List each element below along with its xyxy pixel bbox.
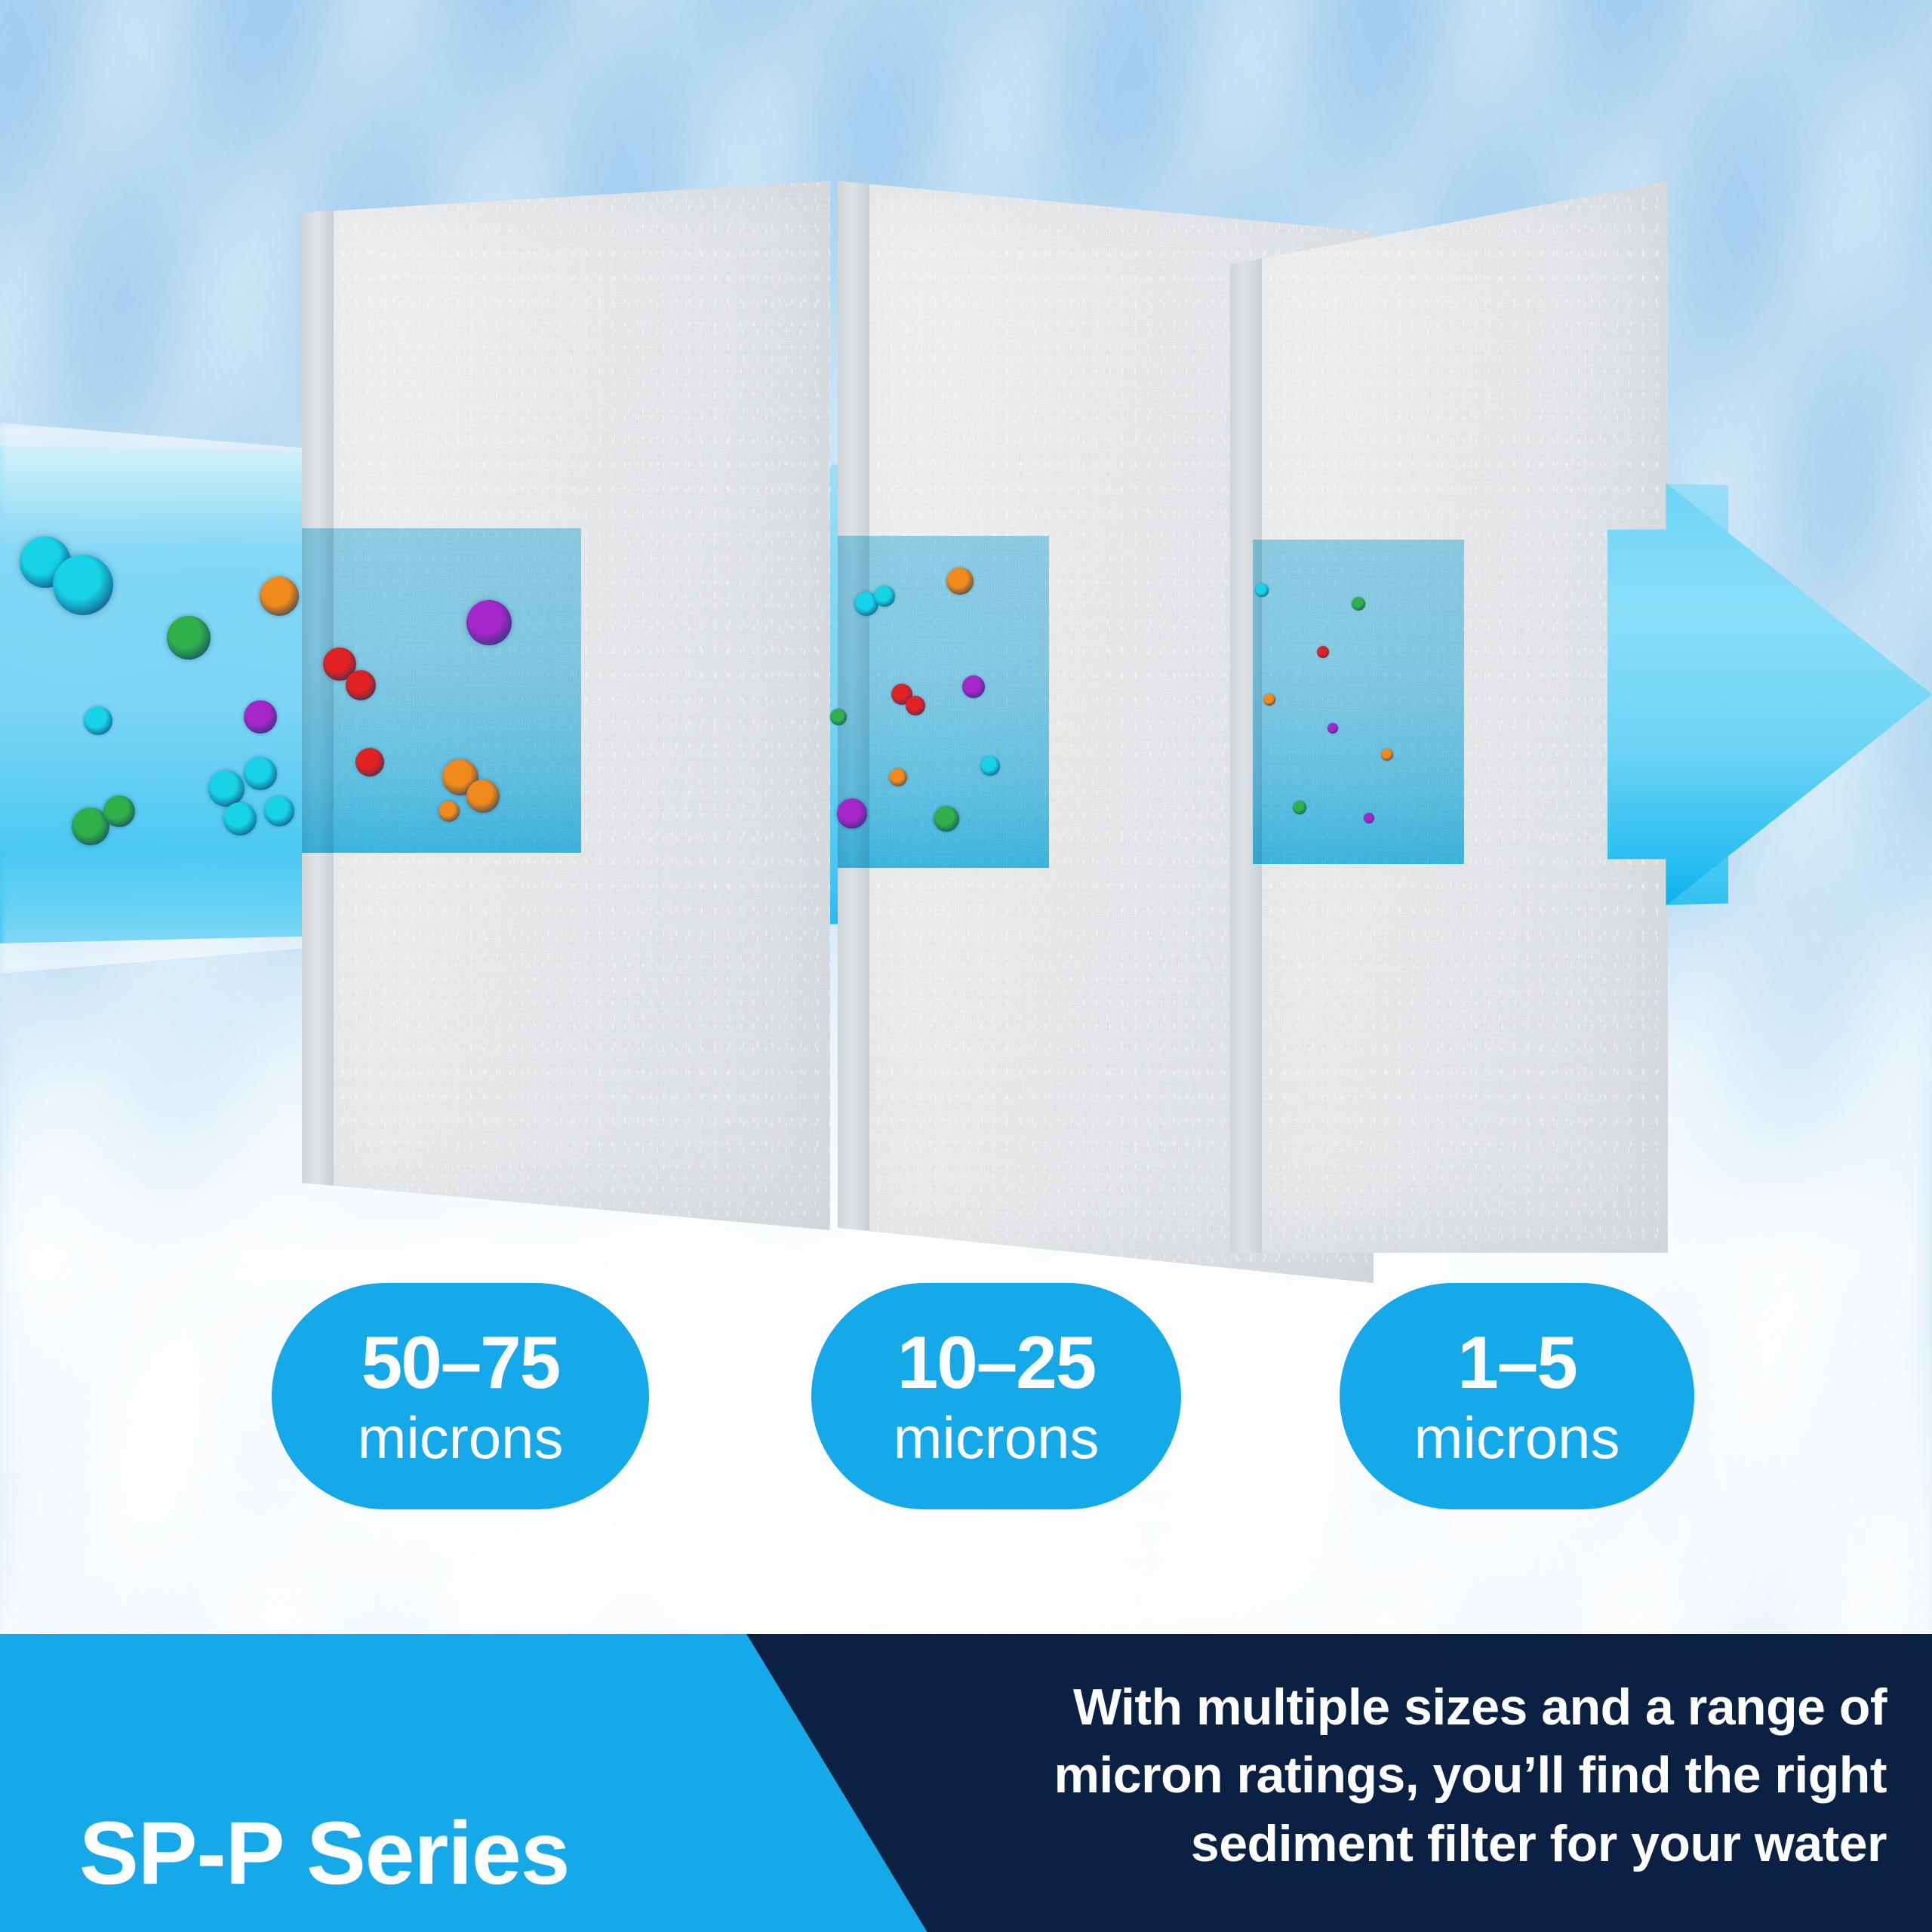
sediment-particle — [1255, 583, 1269, 597]
sediment-particle — [962, 675, 985, 698]
tagline-line-1: With multiple sizes and a range of — [883, 1673, 1887, 1741]
sediment-particle — [874, 586, 895, 607]
sediment-particle — [1381, 749, 1393, 761]
sediment-particle — [244, 757, 277, 790]
micron-pill-stage-3[interactable]: 1–5 microns — [1340, 1283, 1694, 1509]
sediment-particle — [1327, 723, 1338, 734]
micron-unit: microns — [893, 1408, 1099, 1467]
micron-rating-row: 50–75 microns 10–25 microns 1–5 microns — [0, 1283, 1932, 1517]
sediment-particle — [167, 616, 211, 660]
micron-value: 10–25 — [897, 1325, 1096, 1399]
sediment-particle — [346, 670, 376, 700]
sediment-particle — [438, 801, 460, 822]
water-window-stage-3 — [1253, 540, 1464, 864]
sediment-particle — [53, 555, 113, 615]
micron-pill-stage-1[interactable]: 50–75 microns — [272, 1283, 649, 1509]
sediment-particle — [1317, 646, 1329, 658]
sediment-particle — [980, 756, 1000, 776]
sediment-particle — [208, 771, 245, 807]
sediment-particle — [946, 568, 974, 595]
tagline-line-2: micron ratings, you’ll find the right — [883, 1741, 1887, 1809]
sediment-particle — [830, 709, 847, 725]
sediment-particle — [244, 700, 277, 734]
micron-value: 1–5 — [1457, 1325, 1577, 1399]
water-window-texture — [1253, 540, 1464, 864]
brand-title: SP-P Series — [79, 1809, 569, 1898]
micron-pill-stage-2[interactable]: 10–25 microns — [811, 1283, 1181, 1509]
sediment-particle — [264, 796, 294, 826]
sediment-particle — [260, 577, 299, 616]
micron-value: 50–75 — [361, 1325, 560, 1399]
sediment-particle — [466, 600, 512, 645]
sediment-particle — [466, 780, 500, 813]
sediment-particle — [1364, 813, 1374, 823]
sediment-particle — [84, 706, 112, 735]
micron-unit: microns — [1414, 1408, 1620, 1467]
sediment-particle — [934, 806, 959, 832]
sediment-particle — [889, 768, 907, 786]
footer-tagline: With multiple sizes and a range of micro… — [883, 1673, 1887, 1878]
sediment-particle — [103, 795, 135, 827]
sediment-particle — [223, 802, 257, 835]
sediment-particle — [837, 798, 867, 829]
sediment-particle — [355, 748, 384, 777]
sediment-particle — [906, 696, 925, 715]
footer-banner: SP-P Series With multiple sizes and a ra… — [0, 1634, 1932, 1932]
sediment-particle — [1263, 694, 1275, 706]
infographic-canvas: 50–75 microns 10–25 microns 1–5 microns … — [0, 0, 1932, 1932]
sediment-particle — [1352, 597, 1365, 611]
tagline-line-3: sediment filter for your water — [883, 1810, 1887, 1878]
micron-unit: microns — [357, 1408, 563, 1467]
sediment-particle — [1293, 801, 1306, 814]
